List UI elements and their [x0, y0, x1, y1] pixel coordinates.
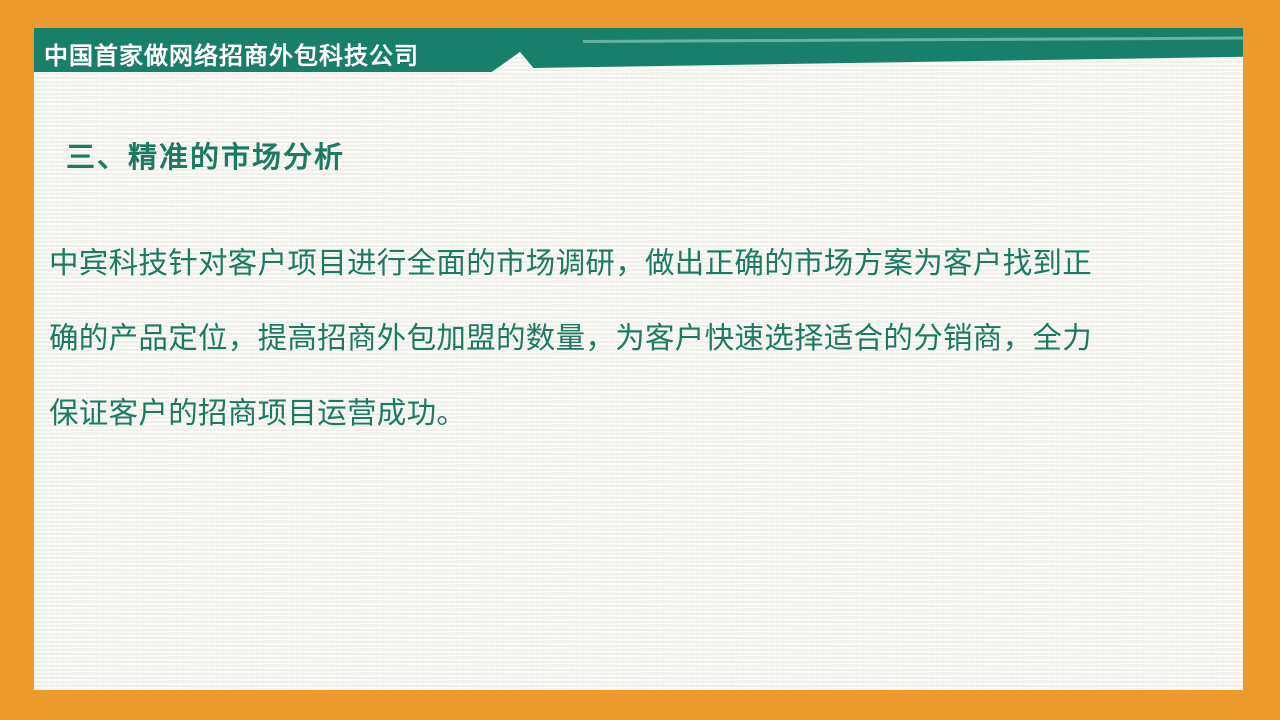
paragraph-line: 保证客户的招商项目运营成功。	[49, 376, 1184, 451]
paragraph-line: 确的产品定位，提高招商外包加盟的数量，为客户快速选择适合的分销商，全力	[49, 301, 1184, 376]
header-banner: 中国首家做网络招商外包科技公司	[0, 0, 1280, 110]
header-green-strip	[500, 28, 1243, 68]
section-heading: 三、精准的市场分析	[66, 134, 345, 176]
header-title: 中国首家做网络招商外包科技公司	[44, 36, 419, 71]
body-paragraph: 中宾科技针对客户项目进行全面的市场调研，做出正确的市场方案为客户找到正 确的产品…	[49, 226, 1184, 451]
footer-banner: 按效果付费，前期不收任何费用	[0, 600, 1280, 720]
presentation-slide: 中国首家做网络招商外包科技公司 三、精准的市场分析 中宾科技针对客户项目进行全面…	[0, 0, 1280, 720]
paragraph-line: 中宾科技针对客户项目进行全面的市场调研，做出正确的市场方案为客户找到正	[49, 226, 1184, 301]
